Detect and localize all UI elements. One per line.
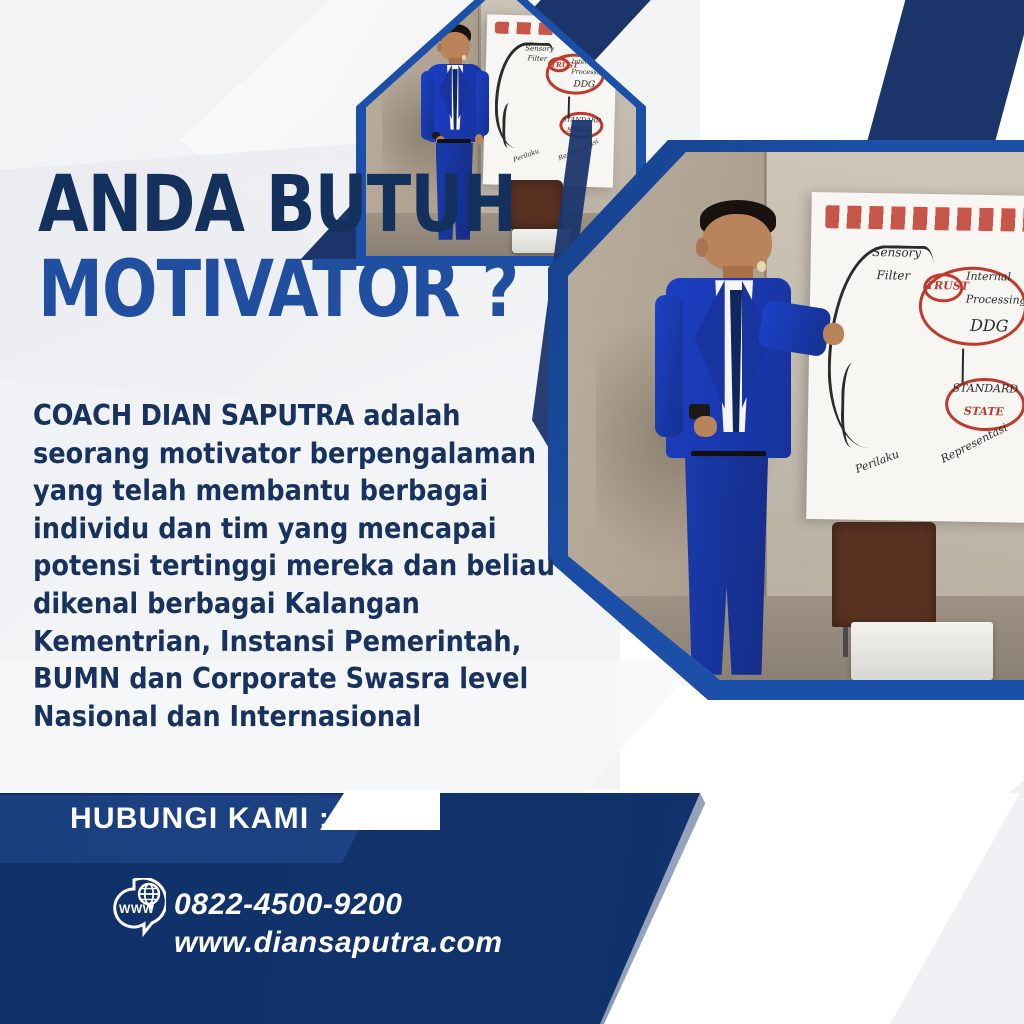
- contact-details: 0822-4500-9200 www.diansaputra.com: [174, 886, 503, 963]
- www-globe-icon: WWW: [104, 878, 166, 940]
- headline-line-2: MOTIVATOR ?: [38, 253, 559, 328]
- contact-phone[interactable]: 0822-4500-9200: [174, 886, 503, 924]
- speaker-photo-pointing: Sensory Filter TRUST Internal Processing…: [568, 152, 1024, 680]
- description-lead: COACH DIAN SAPUTRA: [33, 399, 354, 432]
- contact-website[interactable]: www.diansaputra.com: [174, 924, 503, 962]
- contact-heading: HUBUNGI KAMI :: [70, 802, 330, 836]
- description-rest: adalah seorang motivator berpengalaman y…: [33, 399, 555, 733]
- headline-line-1: ANDA BUTUH: [38, 168, 559, 243]
- poster-canvas: Sensory Filter TRUST Internal Processing…: [0, 0, 1024, 1024]
- page-title: ANDA BUTUH MOTIVATOR ?: [38, 168, 598, 328]
- description-paragraph: COACH DIAN SAPUTRA adalah seorang motiva…: [33, 397, 585, 735]
